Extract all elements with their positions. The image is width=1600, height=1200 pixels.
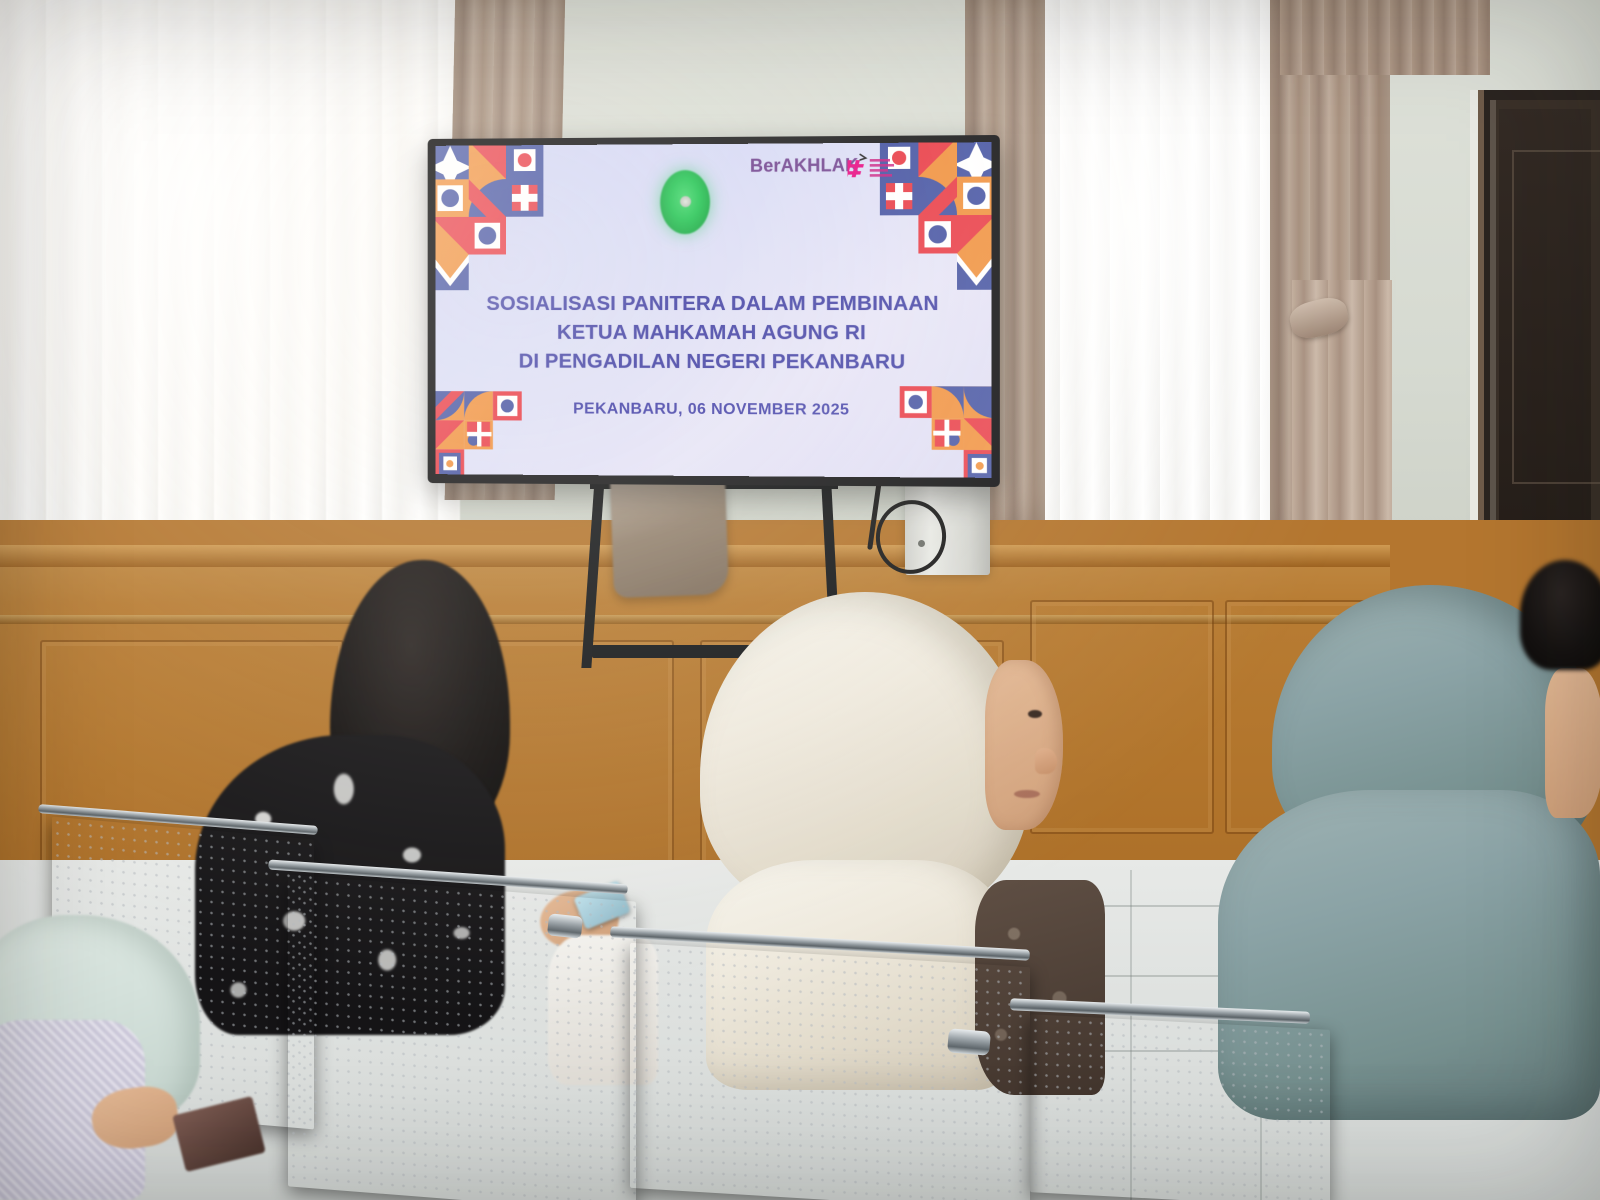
attendee-cream-hijab-face: [985, 660, 1063, 830]
slide-date-line: PEKANBARU, 06 NOVEMBER 2025: [435, 400, 991, 420]
slide-title: SOSIALISASI PANITERA DALAM PEMBINAAN KET…: [435, 289, 991, 377]
presentation-display[interactable]: BerAKHLAK SOSIALISASI PANITERA: [435, 142, 991, 478]
right-window-daylight-glow: [1010, 0, 1310, 540]
attendee-cream-hijab-nose: [1035, 748, 1057, 774]
decorative-corner-pattern-icon: [435, 142, 578, 290]
curtain-pelmet: [1280, 0, 1490, 75]
slide-title-line-1: SOSIALISASI PANITERA DALAM PEMBINAAN: [435, 289, 991, 318]
draped-cloth-on-stand: [610, 476, 729, 598]
decorative-corner-pattern-icon: [435, 369, 547, 478]
chair-backrest-4[interactable]: [1030, 1014, 1330, 1200]
chair-connector-bracket: [547, 913, 583, 938]
slide-title-line-2: KETUA MAHKAMAH AGUNG RI: [435, 318, 991, 348]
berakhlak-wordmark: BerAKHLAK: [750, 155, 858, 177]
chair-connector-bracket: [947, 1028, 991, 1056]
emblem-center-detail: [680, 196, 691, 207]
chair-backrest-3[interactable]: [630, 943, 1030, 1200]
attendee-cream-hijab-eye: [1028, 710, 1042, 718]
bangga-melayani-bangsa-hash-icon: [848, 153, 899, 181]
left-window-daylight-glow: [0, 0, 460, 550]
attendee-teal-hijab-face: [1545, 668, 1600, 818]
chair-backrest-2[interactable]: [288, 874, 636, 1200]
slide-title-line-3: DI PENGADILAN NEGERI PEKANBARU: [435, 347, 991, 377]
meeting-room-photo: BerAKHLAK SOSIALISASI PANITERA: [0, 0, 1600, 1200]
attendee-cream-hijab-mouth: [1014, 790, 1040, 798]
attendee-teal-hijab-back-head-shadow: [1520, 560, 1600, 670]
door-panel-detail: [1512, 150, 1600, 484]
